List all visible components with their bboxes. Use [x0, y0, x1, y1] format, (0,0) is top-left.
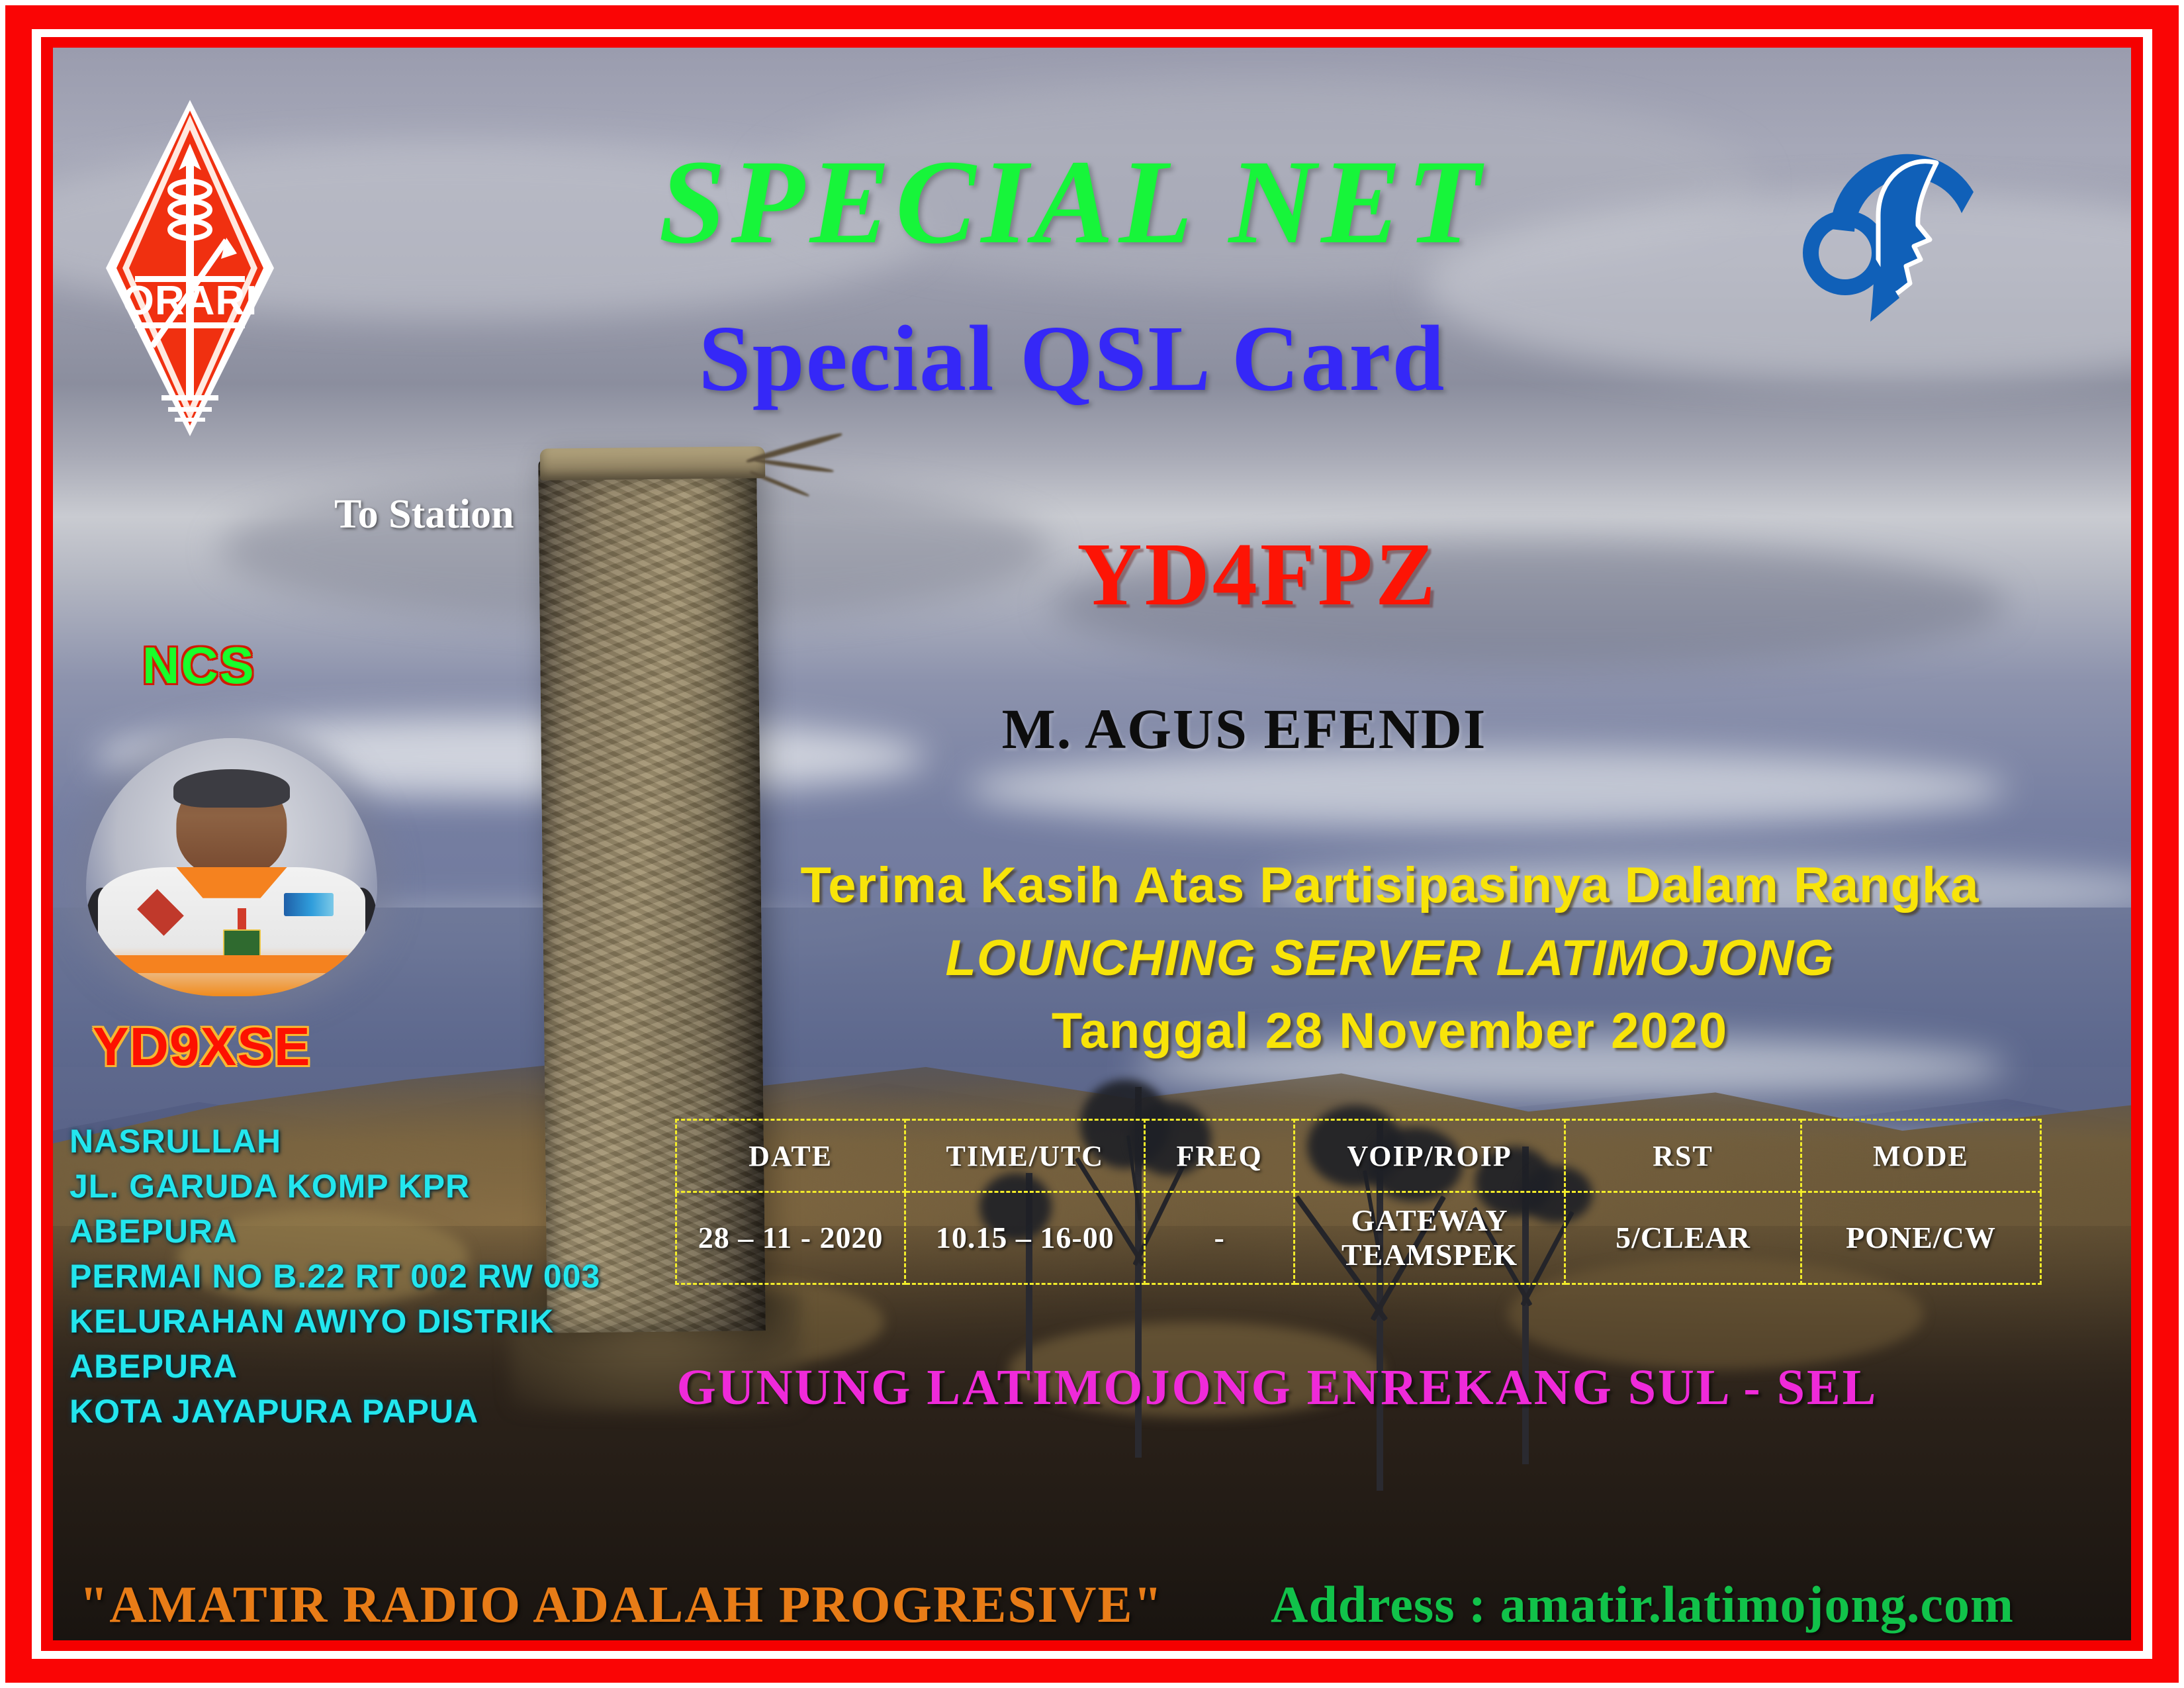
address-line: KELURAHAN AWIYO DISTRIK — [69, 1299, 612, 1344]
address-line: ABEPURA — [69, 1344, 612, 1389]
table-header-rst: RST — [1565, 1120, 1801, 1192]
svg-text:ORARI: ORARI — [122, 278, 258, 324]
address-block: NASRULLAH JL. GARUDA KOMP KPR ABEPURA PE… — [69, 1119, 612, 1434]
station-callsign: YD4FPZ — [860, 530, 1655, 620]
avatar-chest-patch — [284, 893, 334, 916]
cell-time: 10.15 – 16-00 — [905, 1192, 1145, 1284]
ncs-callsign: YD9XSE — [93, 1016, 311, 1078]
table-header-date: DATE — [676, 1120, 905, 1192]
location-line: GUNUNG LATIMOJONG ENREKANG SUL - SEL — [649, 1362, 1906, 1413]
cell-mode: PONE/CW — [1801, 1192, 2040, 1284]
address-line: NASRULLAH — [69, 1119, 612, 1164]
cell-rst: 5/CLEAR — [1565, 1192, 1801, 1284]
headset-face-logo — [1800, 99, 2065, 364]
table-header-freq: FREQ — [1145, 1120, 1295, 1192]
table-header-voip: VOIP/ROIP — [1294, 1120, 1565, 1192]
avatar-belt — [103, 955, 359, 973]
to-station-label: To Station — [334, 491, 514, 538]
address-line: PERMAI NO B.22 RT 002 RW 003 — [69, 1254, 612, 1299]
qso-table: DATE TIME/UTC FREQ VOIP/ROIP RST MODE 28… — [675, 1119, 2042, 1285]
cell-voip: GATEWAY TEAMSPEK — [1294, 1192, 1565, 1284]
ncs-operator-avatar — [86, 738, 377, 996]
address-line: KOTA JAYAPURA PAPUA — [69, 1389, 612, 1434]
cell-freq: - — [1145, 1192, 1295, 1284]
page-title-special-net: SPECIAL NET — [457, 142, 1688, 263]
subtitle-special-qsl-card: Special QSL Card — [457, 311, 1688, 405]
address-line: JL. GARUDA KOMP KPR — [69, 1164, 612, 1209]
footer-slogan: "AMATIR RADIO ADALAH PROGRESIVE" — [79, 1579, 1163, 1630]
event-line-2: LOUNCHING SERVER LATIMOJONG — [768, 933, 2012, 984]
table-header-row: DATE TIME/UTC FREQ VOIP/ROIP RST MODE — [676, 1120, 2041, 1192]
event-line-3: Tanggal 28 November 2020 — [768, 1006, 2012, 1056]
monument-cap — [540, 446, 765, 481]
table-header-mode: MODE — [1801, 1120, 2040, 1192]
qsl-card: ORARI SPECIAL NET Special QSL Card To St… — [0, 0, 2184, 1688]
table-header-time: TIME/UTC — [905, 1120, 1145, 1192]
cell-date: 28 – 11 - 2020 — [676, 1192, 905, 1284]
avatar-hair — [173, 769, 290, 808]
table-row: 28 – 11 - 2020 10.15 – 16-00 - GATEWAY T… — [676, 1192, 2041, 1284]
address-line: ABEPURA — [69, 1209, 612, 1254]
ncs-label: NCS — [142, 635, 255, 696]
event-line-1: Terima Kasih Atas Partisipasinya Dalam R… — [768, 861, 2012, 911]
orari-logo: ORARI — [101, 96, 279, 440]
operator-name: M. AGUS EFENDI — [834, 700, 1655, 757]
footer-web-address: Address : amatir.latimojong.com — [1271, 1579, 2014, 1630]
